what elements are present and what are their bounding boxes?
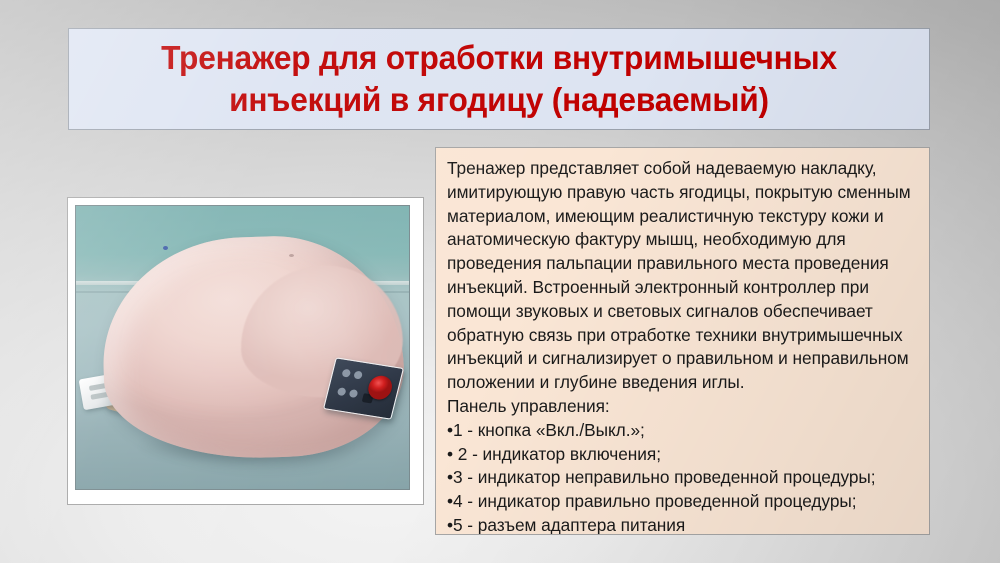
control-panel	[323, 357, 404, 419]
page-title: Тренажер для отработки внутримышечных ин…	[146, 37, 853, 121]
blue-marker-dot	[163, 246, 168, 250]
power-led-icon	[341, 368, 351, 377]
error-led-icon	[353, 370, 363, 379]
list-item: •5 - разъем адаптера питания	[447, 514, 921, 535]
list-item: •3 - индикатор неправильно проведенной п…	[447, 466, 921, 490]
title-box: Тренажер для отработки внутримышечных ин…	[68, 28, 930, 130]
list-item: • 2 - индикатор включения;	[447, 443, 921, 467]
description-box: Тренажер представляет собой надеваемую н…	[435, 147, 930, 535]
list-item: •1 - кнопка «Вкл./Выкл.»;	[447, 419, 921, 443]
list-item: •4 - индикатор правильно проведенной про…	[447, 490, 921, 514]
slide-canvas: Тренажер для отработки внутримышечных ин…	[0, 0, 1000, 563]
status-led-icon	[349, 388, 359, 397]
success-led-icon	[336, 386, 346, 395]
description-paragraph: Тренажер представляет собой надеваемую н…	[447, 157, 921, 395]
control-panel-heading: Панель управления:	[447, 395, 921, 419]
buttock-pad	[99, 232, 406, 463]
product-photo	[75, 205, 410, 490]
photo-frame	[67, 197, 424, 505]
